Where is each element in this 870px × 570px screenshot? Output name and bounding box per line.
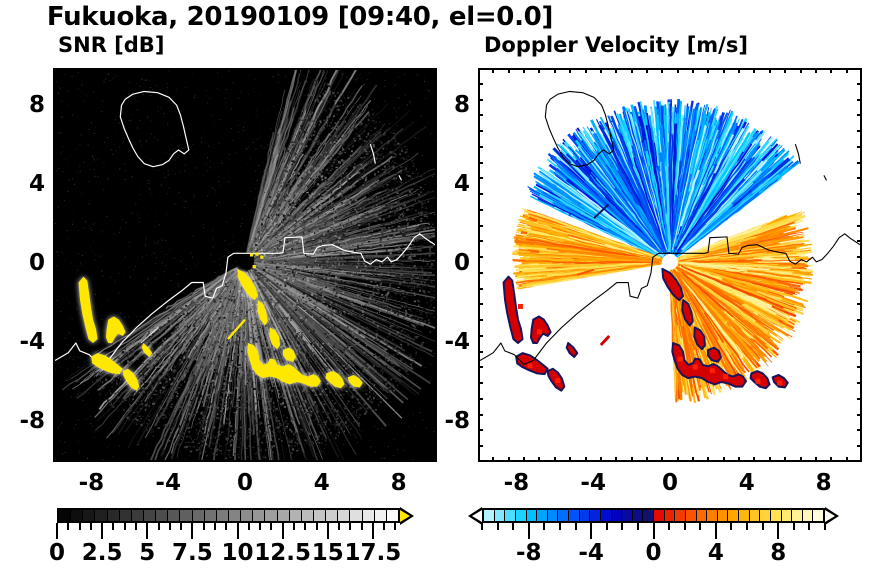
x-tick-minor	[267, 68, 269, 73]
x-tick-minor	[328, 457, 330, 462]
x-axis-label: 4	[292, 470, 352, 496]
x-tick-minor	[129, 457, 131, 462]
colorbar-label: 8	[743, 540, 813, 566]
colorbar-tick-minor	[668, 523, 670, 530]
colorbar-segment	[633, 510, 644, 521]
x-tick-minor	[615, 457, 617, 462]
y-tick-minor	[857, 398, 862, 400]
x-axis-label: -4	[138, 470, 198, 496]
y-tick-minor	[53, 146, 58, 148]
x-tick-minor	[298, 457, 300, 462]
x-tick-minor	[67, 68, 69, 73]
y-tick-minor	[53, 366, 58, 368]
x-tick-minor	[661, 68, 663, 73]
x-tick-minor	[677, 68, 679, 73]
colorbar-segment	[590, 510, 601, 521]
x-tick-minor	[631, 457, 633, 462]
colorbar-segment	[612, 510, 623, 521]
y-tick-minor	[857, 445, 862, 447]
y-tick-minor	[857, 256, 862, 258]
y-tick-minor	[432, 130, 437, 132]
colorbar-label: 4	[681, 540, 751, 566]
x-tick-minor	[800, 68, 802, 73]
x-tick-minor	[344, 457, 346, 462]
colorbar-segment	[265, 510, 277, 521]
x-tick-minor	[830, 457, 832, 462]
colorbar-tick-minor	[180, 523, 182, 530]
colorbar-tick-major	[101, 523, 103, 539]
y-tick-minor	[478, 99, 483, 101]
colorbar-segment	[750, 510, 761, 521]
x-tick-minor	[206, 68, 208, 73]
colorbar-tick-major	[56, 523, 58, 539]
colorbar-tick-minor	[699, 523, 701, 530]
colorbar-tick-minor	[497, 523, 499, 530]
y-tick-minor	[53, 398, 58, 400]
y-tick-minor	[857, 83, 862, 85]
colorbar-tick-minor	[158, 523, 160, 530]
colorbar-tick-minor	[248, 523, 250, 530]
colorbar-label: 0	[619, 540, 689, 566]
colorbar-segment	[193, 510, 205, 521]
colorbar-segment	[654, 510, 665, 521]
y-tick-minor	[53, 319, 58, 321]
x-tick-minor	[83, 457, 85, 462]
colorbar-segment	[760, 510, 771, 521]
x-tick-minor	[83, 68, 85, 73]
colorbar-segment	[363, 510, 375, 521]
y-tick-minor	[478, 429, 483, 431]
y-tick-minor	[432, 366, 437, 368]
doppler-colorbar[interactable]: -8-4048	[482, 508, 825, 568]
x-tick-minor	[206, 457, 208, 462]
colorbar-segment	[718, 510, 729, 521]
colorbar-tick-major	[237, 523, 239, 539]
y-tick-minor	[53, 114, 58, 116]
x-tick-minor	[175, 68, 177, 73]
colorbar-tick-minor	[808, 523, 810, 530]
x-tick-minor	[815, 457, 817, 462]
x-tick-minor	[753, 68, 755, 73]
x-tick-minor	[67, 457, 69, 462]
colorbar-tick-major	[653, 523, 655, 539]
colorbar-segment	[217, 510, 229, 521]
colorbar-segment	[782, 510, 793, 521]
x-tick-minor	[723, 457, 725, 462]
x-tick-minor	[508, 457, 510, 462]
y-tick-minor	[857, 209, 862, 211]
y-axis-label: 0	[1, 250, 45, 276]
snr-colorbar-bar[interactable]	[57, 508, 400, 523]
y-tick-minor	[53, 256, 58, 258]
colorbar-segment	[739, 510, 750, 521]
y-tick-minor	[432, 319, 437, 321]
colorbar-tick-major	[282, 523, 284, 539]
y-tick-minor	[478, 209, 483, 211]
x-tick-minor	[723, 68, 725, 73]
x-tick-minor	[313, 457, 315, 462]
x-tick-minor	[313, 68, 315, 73]
x-tick-minor	[236, 457, 238, 462]
y-tick-minor	[857, 272, 862, 274]
y-tick-minor	[53, 209, 58, 211]
colorbar-segment	[326, 510, 338, 521]
x-tick-minor	[508, 68, 510, 73]
x-tick-minor	[738, 457, 740, 462]
x-tick-minor	[160, 457, 162, 462]
y-tick-minor	[857, 193, 862, 195]
colorbar-tick-major	[191, 523, 193, 539]
y-tick-minor	[857, 382, 862, 384]
x-tick-minor	[282, 68, 284, 73]
colorbar-label: 17.5	[338, 540, 408, 566]
colorbar-segment	[59, 510, 71, 521]
y-tick-minor	[432, 240, 437, 242]
y-tick-minor	[432, 146, 437, 148]
y-tick-minor	[857, 162, 862, 164]
y-axis-label: 0	[426, 250, 470, 276]
colorbar-segment	[527, 510, 538, 521]
y-tick-minor	[53, 382, 58, 384]
colorbar-segment	[580, 510, 591, 521]
colorbar-tick-minor	[338, 523, 340, 530]
colorbar-tick-major	[327, 523, 329, 539]
colorbar-tick-minor	[621, 523, 623, 530]
colorbar-label: -4	[556, 540, 626, 566]
y-tick-minor	[857, 319, 862, 321]
colorbar-arrow-max-fill	[400, 510, 410, 522]
colorbar-tick-minor	[259, 523, 261, 530]
colorbar-tick-minor	[112, 523, 114, 530]
colorbar-tick-major	[777, 523, 779, 539]
x-tick-minor	[707, 68, 709, 73]
colorbar-tick-minor	[512, 523, 514, 530]
colorbar-tick-minor	[67, 523, 69, 530]
y-tick-minor	[53, 303, 58, 305]
colorbar-tick-minor	[394, 523, 396, 530]
colorbar-tick-minor	[543, 523, 545, 530]
x-tick-minor	[738, 68, 740, 73]
x-axis-label: 8	[794, 470, 854, 496]
y-axis-label: -8	[426, 408, 470, 434]
x-tick-minor	[769, 457, 771, 462]
x-tick-minor	[359, 68, 361, 73]
x-axis-label: 4	[717, 470, 777, 496]
y-axis-label: 8	[426, 92, 470, 118]
x-tick-minor	[144, 68, 146, 73]
y-tick-minor	[432, 288, 437, 290]
colorbar-segment	[338, 510, 350, 521]
colorbar-segment	[205, 510, 217, 521]
x-tick-minor	[784, 457, 786, 462]
x-tick-minor	[784, 68, 786, 73]
colorbar-segment	[229, 510, 241, 521]
y-tick-minor	[857, 366, 862, 368]
colorbar-segment	[120, 510, 132, 521]
colorbar-tick-minor	[481, 523, 483, 530]
colorbar-segment	[156, 510, 168, 521]
x-tick-minor	[98, 68, 100, 73]
colorbar-segment	[144, 510, 156, 521]
y-tick-minor	[478, 114, 483, 116]
colorbar-segment	[643, 510, 654, 521]
colorbar-segment	[622, 510, 633, 521]
y-tick-minor	[478, 414, 483, 416]
x-tick-minor	[523, 457, 525, 462]
y-tick-minor	[478, 319, 483, 321]
y-tick-minor	[432, 445, 437, 447]
x-tick-minor	[236, 68, 238, 73]
colorbar-tick-minor	[225, 523, 227, 530]
x-tick-minor	[160, 68, 162, 73]
y-tick-minor	[857, 225, 862, 227]
x-axis-label: 0	[640, 470, 700, 496]
y-tick-minor	[857, 177, 862, 179]
colorbar-segment	[290, 510, 302, 521]
colorbar-segment	[168, 510, 180, 521]
colorbar-tick-minor	[79, 523, 81, 530]
y-tick-minor	[53, 225, 58, 227]
x-axis-label: 8	[369, 470, 429, 496]
colorbar-segment	[278, 510, 290, 521]
x-tick-minor	[375, 457, 377, 462]
y-tick-minor	[432, 382, 437, 384]
x-tick-minor	[98, 457, 100, 462]
snr-colorbar[interactable]: 02.557.51012.51517.5	[57, 508, 400, 568]
colorbar-segment	[601, 510, 612, 521]
x-tick-minor	[390, 457, 392, 462]
x-tick-minor	[221, 68, 223, 73]
y-tick-minor	[432, 398, 437, 400]
colorbar-tick-major	[528, 523, 530, 539]
x-tick-minor	[221, 457, 223, 462]
x-tick-minor	[252, 68, 254, 73]
colorbar-segment	[495, 510, 506, 521]
y-tick-minor	[53, 288, 58, 290]
y-tick-minor	[432, 303, 437, 305]
y-tick-minor	[53, 177, 58, 179]
colorbar-segment	[387, 510, 398, 521]
x-tick-minor	[692, 68, 694, 73]
colorbar-segment	[548, 510, 559, 521]
y-tick-minor	[53, 335, 58, 337]
x-tick-minor	[692, 457, 694, 462]
colorbar-segment	[83, 510, 95, 521]
colorbar-tick-minor	[90, 523, 92, 530]
colorbar-segment	[813, 510, 823, 521]
x-tick-minor	[769, 68, 771, 73]
y-tick-minor	[478, 445, 483, 447]
y-tick-minor	[53, 445, 58, 447]
y-tick-minor	[432, 162, 437, 164]
y-tick-minor	[53, 193, 58, 195]
colorbar-segment	[516, 510, 527, 521]
colorbar-segment	[803, 510, 814, 521]
y-tick-minor	[478, 130, 483, 132]
x-tick-minor	[830, 68, 832, 73]
x-tick-minor	[359, 457, 361, 462]
colorbar-segment	[558, 510, 569, 521]
colorbar-tick-minor	[824, 523, 826, 530]
y-tick-minor	[857, 146, 862, 148]
x-tick-minor	[646, 68, 648, 73]
colorbar-tick-minor	[575, 523, 577, 530]
y-tick-minor	[857, 114, 862, 116]
y-axis-label: -4	[426, 329, 470, 355]
colorbar-tick-minor	[124, 523, 126, 530]
y-tick-minor	[478, 303, 483, 305]
x-tick-minor	[753, 457, 755, 462]
colorbar-segment	[728, 510, 739, 521]
y-tick-minor	[478, 162, 483, 164]
x-tick-minor	[554, 457, 556, 462]
x-tick-minor	[800, 457, 802, 462]
colorbar-tick-minor	[559, 523, 561, 530]
x-tick-minor	[405, 68, 407, 73]
x-tick-minor	[113, 68, 115, 73]
colorbar-tick-minor	[349, 523, 351, 530]
y-tick-minor	[857, 429, 862, 431]
x-tick-minor	[707, 457, 709, 462]
colorbar-segment	[697, 510, 708, 521]
colorbar-segment	[375, 510, 387, 521]
colorbar-tick-minor	[762, 523, 764, 530]
x-tick-minor	[615, 68, 617, 73]
x-tick-minor	[421, 457, 423, 462]
colorbar-segment	[314, 510, 326, 521]
colorbar-tick-minor	[361, 523, 363, 530]
y-axis-label: -8	[1, 408, 45, 434]
x-tick-minor	[175, 457, 177, 462]
colorbar-segment	[350, 510, 362, 521]
colorbar-tick-minor	[135, 523, 137, 530]
x-tick-minor	[569, 68, 571, 73]
y-axis-label: 4	[426, 171, 470, 197]
colorbar-tick-minor	[746, 523, 748, 530]
x-tick-minor	[815, 68, 817, 73]
colorbar-segment	[686, 510, 697, 521]
x-tick-minor	[661, 457, 663, 462]
x-tick-minor	[631, 68, 633, 73]
x-tick-minor	[421, 68, 423, 73]
x-tick-minor	[129, 68, 131, 73]
colorbar-segment	[771, 510, 782, 521]
colorbar-segment	[569, 510, 580, 521]
x-tick-minor	[390, 68, 392, 73]
colorbar-tick-minor	[316, 523, 318, 530]
y-tick-minor	[478, 193, 483, 195]
y-tick-minor	[53, 414, 58, 416]
x-tick-minor	[600, 457, 602, 462]
colorbar-segment	[505, 510, 516, 521]
x-tick-minor	[677, 457, 679, 462]
x-tick-minor	[538, 457, 540, 462]
colorbar-tick-minor	[214, 523, 216, 530]
y-tick-minor	[432, 225, 437, 227]
colorbar-tick-minor	[270, 523, 272, 530]
x-axis-label: -8	[61, 470, 121, 496]
x-tick-minor	[846, 457, 848, 462]
y-tick-minor	[53, 351, 58, 353]
colorbar-segment	[302, 510, 314, 521]
x-tick-minor	[190, 68, 192, 73]
y-tick-minor	[53, 130, 58, 132]
colorbar-segment	[71, 510, 83, 521]
x-tick-minor	[344, 68, 346, 73]
y-tick-minor	[857, 414, 862, 416]
y-tick-minor	[432, 209, 437, 211]
x-tick-minor	[328, 68, 330, 73]
colorbar-label: -8	[494, 540, 564, 566]
y-tick-minor	[432, 83, 437, 85]
y-tick-minor	[478, 351, 483, 353]
x-tick-minor	[190, 457, 192, 462]
y-tick-minor	[478, 398, 483, 400]
y-tick-minor	[478, 366, 483, 368]
x-tick-minor	[585, 68, 587, 73]
axes-layer: -8-4048840-4-8-8-4048840-4-8	[0, 0, 870, 570]
colorbar-segment	[180, 510, 192, 521]
colorbar-segment	[792, 510, 803, 521]
x-tick-minor	[492, 68, 494, 73]
y-tick-minor	[478, 256, 483, 258]
colorbar-tick-minor	[203, 523, 205, 530]
y-axis-label: -4	[1, 329, 45, 355]
x-tick-minor	[252, 457, 254, 462]
x-tick-minor	[298, 68, 300, 73]
x-tick-minor	[282, 457, 284, 462]
colorbar-arrow-min-fill	[472, 510, 482, 522]
y-tick-minor	[857, 303, 862, 305]
x-tick-minor	[523, 68, 525, 73]
colorbar-segment	[95, 510, 107, 521]
colorbar-tick-major	[146, 523, 148, 539]
y-tick-minor	[478, 146, 483, 148]
y-tick-minor	[53, 272, 58, 274]
colorbar-segment	[537, 510, 548, 521]
y-tick-minor	[478, 177, 483, 179]
colorbar-tick-minor	[606, 523, 608, 530]
y-axis-label: 4	[1, 171, 45, 197]
x-tick-minor	[600, 68, 602, 73]
y-tick-minor	[478, 335, 483, 337]
colorbar-segment	[707, 510, 718, 521]
x-tick-minor	[538, 68, 540, 73]
colorbar-segment	[241, 510, 253, 521]
y-tick-minor	[857, 351, 862, 353]
colorbar-segment	[132, 510, 144, 521]
x-tick-minor	[113, 457, 115, 462]
y-tick-minor	[857, 288, 862, 290]
y-tick-minor	[857, 130, 862, 132]
y-tick-minor	[478, 288, 483, 290]
y-tick-minor	[857, 99, 862, 101]
y-tick-minor	[53, 83, 58, 85]
y-tick-minor	[857, 240, 862, 242]
y-tick-minor	[478, 240, 483, 242]
y-tick-minor	[53, 162, 58, 164]
y-tick-minor	[857, 335, 862, 337]
x-tick-minor	[267, 457, 269, 462]
y-tick-minor	[53, 99, 58, 101]
x-tick-minor	[846, 68, 848, 73]
x-tick-minor	[569, 457, 571, 462]
y-tick-minor	[53, 240, 58, 242]
y-tick-minor	[478, 225, 483, 227]
colorbar-tick-minor	[304, 523, 306, 530]
x-axis-label: -4	[563, 470, 623, 496]
doppler-colorbar-bar[interactable]	[482, 508, 825, 523]
